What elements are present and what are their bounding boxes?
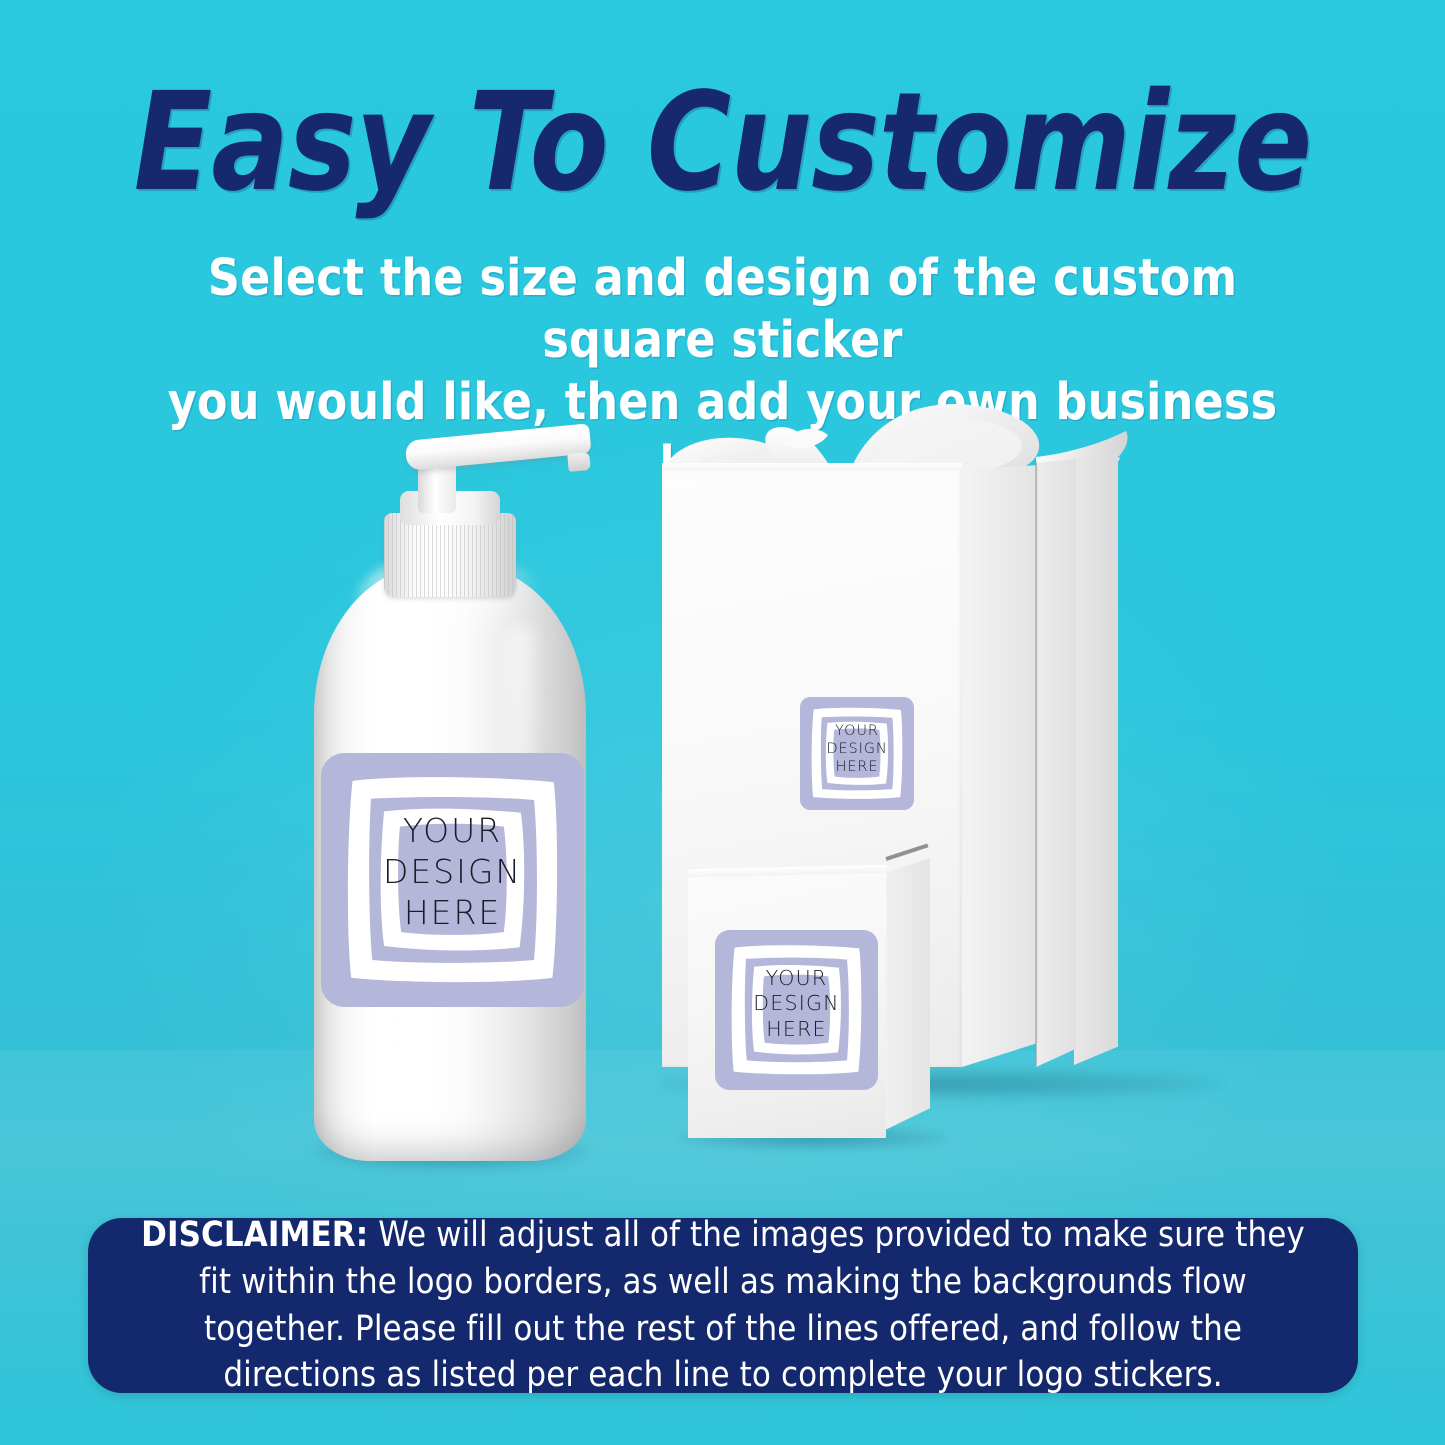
sticker-on-small-box[interactable]: YOUR DESIGN HERE <box>715 930 878 1090</box>
small-box-side-panel <box>885 858 930 1130</box>
sticker-on-gift-box[interactable]: YOUR DESIGN HERE <box>800 697 914 810</box>
sticker-line-1: YOUR <box>800 723 914 741</box>
sticker-line-1: YOUR <box>321 811 584 852</box>
page-title: Easy To Customize <box>43 74 1401 213</box>
sticker-line-2: DESIGN <box>321 852 584 893</box>
sticker-line-3: HERE <box>800 759 914 777</box>
sticker-text: YOUR DESIGN HERE <box>715 966 878 1042</box>
pump-nozzle-tip <box>567 452 590 472</box>
sticker-on-bottle[interactable]: YOUR DESIGN HERE <box>321 753 584 1007</box>
disclaimer-text: DISCLAIMER: We will adjust all of the im… <box>98 1212 1349 1398</box>
sticker-text: YOUR DESIGN HERE <box>321 811 584 934</box>
bottle-ribbed-collar <box>384 513 516 597</box>
gift-box-mid-panel <box>1036 459 1076 1067</box>
gift-box-seam <box>1035 461 1037 1066</box>
sticker-line-2: DESIGN <box>715 991 878 1016</box>
gift-box-back-panel <box>1074 453 1118 1065</box>
disclaimer-label: DISCLAIMER: <box>141 1215 368 1255</box>
sticker-line-3: HERE <box>321 893 584 934</box>
page-subtitle-line-1: Select the size and design of the custom… <box>115 248 1330 372</box>
disclaimer-banner: DISCLAIMER: We will adjust all of the im… <box>88 1218 1358 1393</box>
gift-box-side-panel <box>962 465 1038 1067</box>
pump-nozzle-arm[interactable] <box>405 423 592 471</box>
sticker-line-1: YOUR <box>715 966 878 991</box>
sticker-line-2: DESIGN <box>800 741 914 759</box>
sticker-line-3: HERE <box>715 1017 878 1042</box>
sticker-text: YOUR DESIGN HERE <box>800 723 914 777</box>
